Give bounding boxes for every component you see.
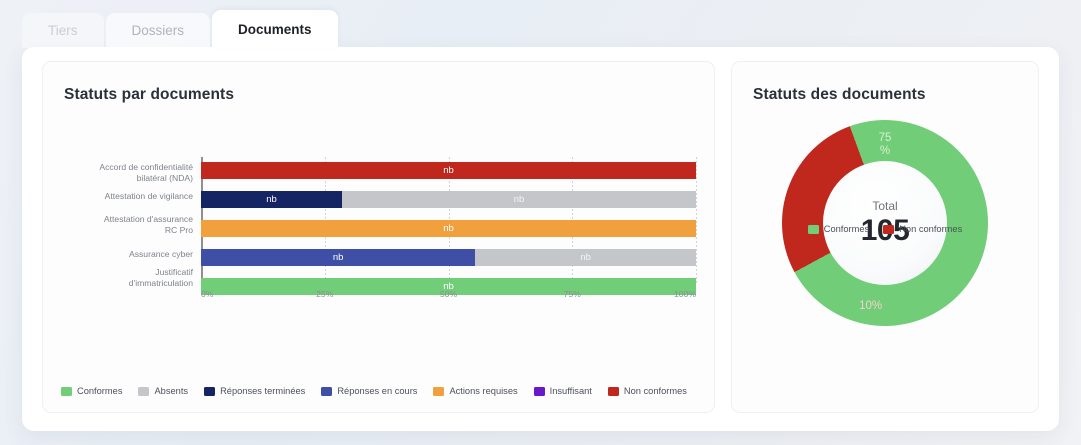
y-axis-labels: Accord de confidentialité bilatéral (NDA… (51, 162, 193, 277)
y-axis-label: Accord de confidentialité bilatéral (NDA… (53, 162, 193, 184)
y-label-line: Accord de confidentialité (99, 162, 193, 172)
legend-label: Non conformes (899, 224, 962, 234)
y-label-line: Assurance cyber (129, 249, 193, 259)
tab-tiers[interactable]: Tiers (22, 13, 104, 48)
y-axis-label: Attestation d'assurance RC Pro (53, 214, 193, 236)
legend-item-insuffisant[interactable]: Insuffisant (534, 386, 592, 396)
bar-row: nb nb (201, 191, 696, 208)
legend-label: Insuffisant (550, 386, 592, 396)
bar-segment[interactable]: nb (475, 249, 696, 266)
legend-swatch-icon (534, 387, 545, 396)
donut-chart-legend: Conformes Non conformes (732, 62, 1038, 396)
tab-strip: Tiers Dossiers Documents (22, 12, 340, 48)
legend-item-actions-requises[interactable]: Actions requises (433, 386, 517, 396)
bar-chart-title: Statuts par documents (64, 86, 234, 104)
tab-documents[interactable]: Documents (212, 10, 338, 48)
y-axis-label: Assurance cyber (53, 249, 193, 260)
legend-item-non-conformes[interactable]: Non conformes (608, 386, 687, 396)
donut-chart-card: Statuts des documents 75 % 10% Total 105… (731, 61, 1039, 413)
x-axis-tick: 75% (564, 289, 581, 299)
x-axis-tick: 100% (674, 289, 696, 299)
legend-item-absents[interactable]: Absents (138, 386, 188, 396)
legend-swatch-icon (608, 387, 619, 396)
legend-item-conformes[interactable]: Conformes (61, 386, 122, 396)
bar-row: nb nb (201, 249, 696, 266)
gridline-100 (696, 157, 697, 284)
bar-row: nb (201, 220, 696, 237)
x-axis-tick: 25% (316, 289, 333, 299)
bar-chart: Accord de confidentialité bilatéral (NDA… (43, 117, 715, 362)
y-label-line: Attestation de vigilance (105, 191, 193, 201)
legend-item-reponses-terminees[interactable]: Réponses terminées (204, 386, 305, 396)
legend-swatch-icon (138, 387, 149, 396)
legend-item-reponses-en-cours[interactable]: Réponses en cours (321, 386, 417, 396)
bar-segment[interactable]: nb (201, 220, 696, 237)
x-axis-tick: 0% (201, 289, 213, 299)
legend-swatch-icon (61, 387, 72, 396)
bar-chart-card: Statuts par documents Accord de confiden… (42, 61, 715, 413)
legend-label: Réponses en cours (337, 386, 417, 396)
legend-label: Absents (154, 386, 188, 396)
bar-segment[interactable]: nb (201, 162, 696, 179)
legend-label: Non conformes (624, 386, 687, 396)
tab-dossiers[interactable]: Dossiers (106, 13, 211, 48)
legend-label: Conformes (77, 386, 122, 396)
x-axis-ticks: 0% 25% 50% 75% 100% (201, 289, 711, 303)
bar-segment[interactable]: nb (201, 249, 475, 266)
bar-chart-legend: Conformes Absents Réponses terminées Rép… (61, 386, 687, 396)
legend-swatch-icon (204, 387, 215, 396)
x-axis-tick: 50% (440, 289, 457, 299)
y-axis-label: Justificatif d'immatriculation (53, 267, 193, 289)
y-label-line: Justificatif (155, 267, 193, 277)
bar-plot-area: nb nb nb nb nb nb (201, 162, 696, 277)
legend-swatch-icon (883, 225, 894, 234)
legend-swatch-icon (321, 387, 332, 396)
y-label-line: bilatéral (NDA) (137, 173, 193, 183)
bar-segment[interactable]: nb (342, 191, 696, 208)
cards-container: Statuts par documents Accord de confiden… (42, 61, 1039, 413)
legend-label: Actions requises (449, 386, 517, 396)
legend-label: Réponses terminées (220, 386, 305, 396)
y-axis-label: Attestation de vigilance (53, 191, 193, 202)
bar-row: nb (201, 162, 696, 179)
legend-swatch-icon (433, 387, 444, 396)
legend-swatch-icon (808, 225, 819, 234)
y-label-line: d'immatriculation (129, 278, 193, 288)
main-panel: Statuts par documents Accord de confiden… (22, 47, 1059, 431)
legend-item-non-conformes[interactable]: Non conformes (883, 224, 962, 234)
y-label-line: RC Pro (165, 225, 193, 235)
bar-segment[interactable]: nb (201, 191, 342, 208)
legend-item-conformes[interactable]: Conformes (808, 224, 869, 234)
legend-label: Conformes (824, 224, 869, 234)
y-label-line: Attestation d'assurance (104, 214, 193, 224)
